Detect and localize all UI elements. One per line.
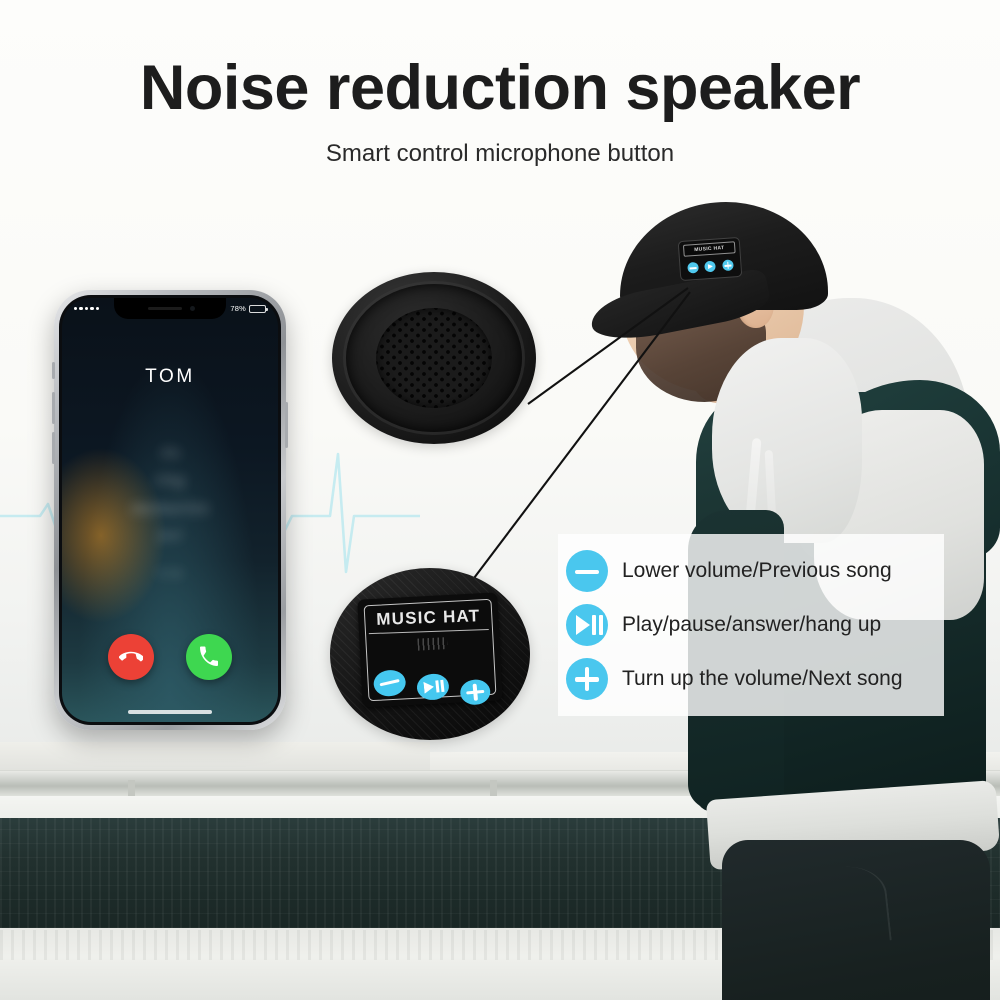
phone-icon: [197, 645, 221, 669]
minus-circle-icon: [566, 550, 608, 592]
legend-row: Turn up the volume/Next song: [566, 655, 944, 703]
legend-row: Play/pause/answer/hang up: [566, 601, 944, 649]
earpiece-speaker-icon: [148, 307, 182, 310]
control-patch-closeup-callout: MUSIC HAT: [330, 568, 530, 740]
battery-indicator: 78%: [230, 304, 266, 313]
phone-mute-switch[interactable]: [52, 362, 55, 379]
legend-row: Lower volume/Previous song: [566, 547, 944, 595]
speaker-rim: [346, 284, 522, 432]
product-infographic: MUSIC HAT MUSIC HAT: [0, 0, 1000, 1000]
patch-plus-button-icon: [459, 678, 491, 706]
blurred-wallpaper-text: Alu ring memories feel TOM: [62, 438, 278, 587]
battery-percent-label: 78%: [230, 304, 246, 313]
phone-volume-down-button[interactable]: [52, 432, 55, 464]
phone-notch: [114, 298, 226, 319]
play-pause-circle-icon: [566, 604, 608, 646]
cap-plus-button-icon: [722, 259, 734, 271]
speaker-mesh-icon: [376, 308, 492, 408]
control-legend-panel: Lower volume/Previous song Play/pause/an…: [558, 534, 944, 716]
battery-icon: [249, 305, 266, 313]
home-indicator[interactable]: [128, 710, 212, 714]
decline-call-button[interactable]: [108, 634, 154, 680]
blurred-line: ring: [62, 469, 278, 490]
plus-circle-icon: [566, 658, 608, 700]
patch-minus-button-icon: [372, 668, 407, 698]
cap-control-patch: MUSIC HAT: [679, 238, 742, 280]
page-title: Noise reduction speaker: [0, 52, 1000, 124]
blurred-line: memories: [62, 497, 278, 520]
cap-minus-button-icon: [687, 262, 699, 274]
legend-label: Lower volume/Previous song: [622, 559, 892, 583]
microphone-grill-icon: [417, 637, 448, 651]
cap-patch-brand: MUSIC HAT: [683, 241, 736, 257]
speaker-closeup-callout: [332, 272, 536, 444]
patch-play-pause-button-icon: [416, 672, 451, 701]
page-subtitle: Smart control microphone button: [0, 140, 1000, 168]
blurred-line: feel: [62, 527, 278, 545]
cap-play-pause-button-icon: [705, 261, 717, 273]
phone-power-button[interactable]: [285, 402, 288, 448]
phone-down-icon: [119, 645, 143, 669]
control-patch-plate: MUSIC HAT: [357, 592, 502, 707]
call-action-buttons: [62, 634, 278, 680]
blurred-line: TOM: [62, 569, 278, 580]
cap-patch-buttons: [684, 257, 737, 276]
control-patch-buttons: [372, 653, 490, 701]
answer-call-button[interactable]: [186, 634, 232, 680]
phone-screen: 78% TOM Alu ring memories feel TOM: [62, 298, 278, 722]
front-camera-icon: [190, 306, 195, 311]
signal-strength-icon: [74, 307, 99, 310]
caller-name-label: TOM: [62, 366, 278, 388]
phone-bezel: 78% TOM Alu ring memories feel TOM: [59, 295, 281, 725]
control-patch-brand: MUSIC HAT: [368, 602, 489, 634]
legend-label: Turn up the volume/Next song: [622, 667, 903, 691]
phone-volume-up-button[interactable]: [52, 392, 55, 424]
phone-mockup: 78% TOM Alu ring memories feel TOM: [54, 290, 286, 730]
blurred-line: Alu: [62, 445, 278, 462]
jeans-pocket: [778, 863, 892, 952]
legend-label: Play/pause/answer/hang up: [622, 613, 881, 637]
